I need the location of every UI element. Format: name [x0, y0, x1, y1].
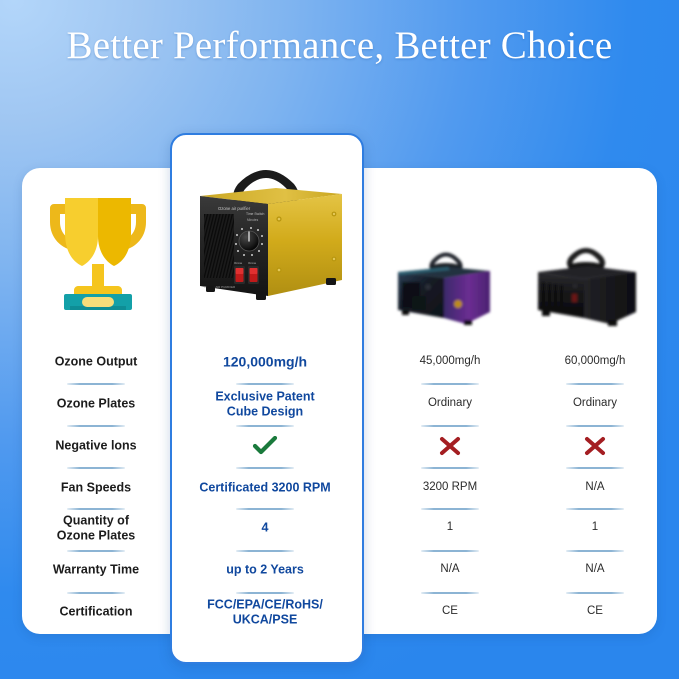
trophy-icon [34, 182, 162, 310]
svg-text:Ozone: Ozone [248, 261, 257, 265]
dark-blue-ozone-unit-image [386, 238, 514, 330]
infographic-root: Better Performance, Better Choice [0, 0, 679, 679]
svg-text:Time Switch: Time Switch [246, 212, 264, 216]
gold-ozone-generator-image: Ozone air purifier Time Switch Minutes [176, 140, 356, 320]
svg-text:Minutes: Minutes [247, 218, 259, 222]
black-ozone-unit-image [528, 236, 652, 332]
page-title: Better Performance, Better Choice [0, 22, 679, 70]
svg-text:Ozone air purifier: Ozone air purifier [218, 206, 251, 211]
svg-text:Ozone: Ozone [234, 261, 243, 265]
